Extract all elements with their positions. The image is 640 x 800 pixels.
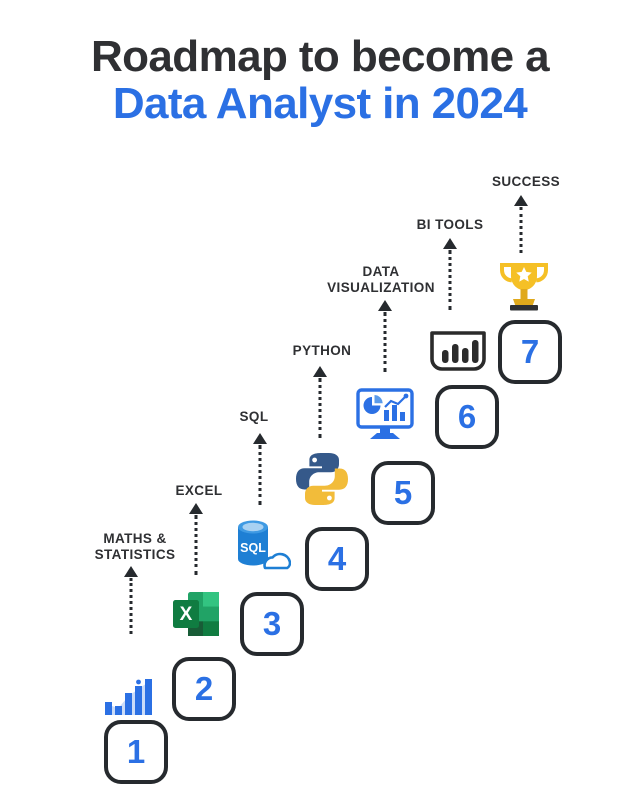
svg-text:X: X: [180, 604, 193, 625]
arrow-shaft: [384, 312, 387, 372]
step-arrow-6: [444, 238, 456, 310]
step-number-box-2[interactable]: 2: [172, 657, 236, 721]
arrow-shaft: [195, 515, 198, 575]
arrow-shaft: [319, 378, 322, 438]
step-number-box-3[interactable]: 3: [240, 592, 304, 656]
arrow-head-icon: [253, 433, 267, 444]
arrow-head-icon: [514, 195, 528, 206]
step-arrow-1: [125, 566, 137, 634]
arrow-shaft: [259, 445, 262, 505]
step-arrow-2: [190, 503, 202, 575]
step-number-box-7[interactable]: 7: [498, 320, 562, 384]
svg-text:SQL: SQL: [240, 541, 266, 555]
arrow-head-icon: [124, 566, 138, 577]
step-arrow-4: [314, 366, 326, 438]
python-logo-icon: [292, 449, 352, 509]
step-arrow-3: [254, 433, 266, 505]
step-number-text: 5: [394, 476, 412, 509]
step-number-box-6[interactable]: 6: [435, 385, 499, 449]
roadmap-staircase: MATHS & STATISTICS 1EXCEL X 2SQL SQL 3PY…: [0, 0, 640, 800]
arrow-shaft: [130, 578, 133, 634]
step-number-text: 1: [127, 735, 145, 768]
arrow-head-icon: [189, 503, 203, 514]
step-number-box-1[interactable]: 1: [104, 720, 168, 784]
step-label-bi-tools: BI TOOLS: [417, 217, 484, 233]
step-label-success: SUCCESS: [492, 174, 560, 190]
step-label-python: PYTHON: [293, 343, 352, 359]
bar-chart-statistics-icon: [101, 662, 161, 722]
arrow-head-icon: [378, 300, 392, 311]
step-label-excel: EXCEL: [175, 483, 222, 499]
sql-database-cloud-icon: SQL: [231, 515, 291, 575]
trophy-icon: [494, 257, 554, 317]
microsoft-excel-icon: X: [167, 584, 227, 644]
arrow-shaft: [449, 250, 452, 310]
step-label-maths-statistics: MATHS & STATISTICS: [95, 531, 176, 563]
arrow-head-icon: [443, 238, 457, 249]
step-number-text: 6: [458, 400, 476, 433]
step-number-box-5[interactable]: 5: [371, 461, 435, 525]
arrow-head-icon: [313, 366, 327, 377]
step-number-text: 7: [521, 335, 539, 368]
data-visualization-monitor-icon: [355, 383, 415, 443]
step-label-data-visualization: DATA VISUALIZATION: [327, 264, 435, 296]
step-number-box-4[interactable]: 4: [305, 527, 369, 591]
step-number-text: 4: [328, 542, 346, 575]
power-bi-icon: [428, 322, 488, 382]
step-arrow-7: [515, 195, 527, 253]
arrow-shaft: [520, 207, 523, 253]
step-number-text: 2: [195, 672, 213, 705]
step-arrow-5: [379, 300, 391, 372]
step-label-sql: SQL: [240, 409, 269, 425]
step-number-text: 3: [263, 607, 281, 640]
